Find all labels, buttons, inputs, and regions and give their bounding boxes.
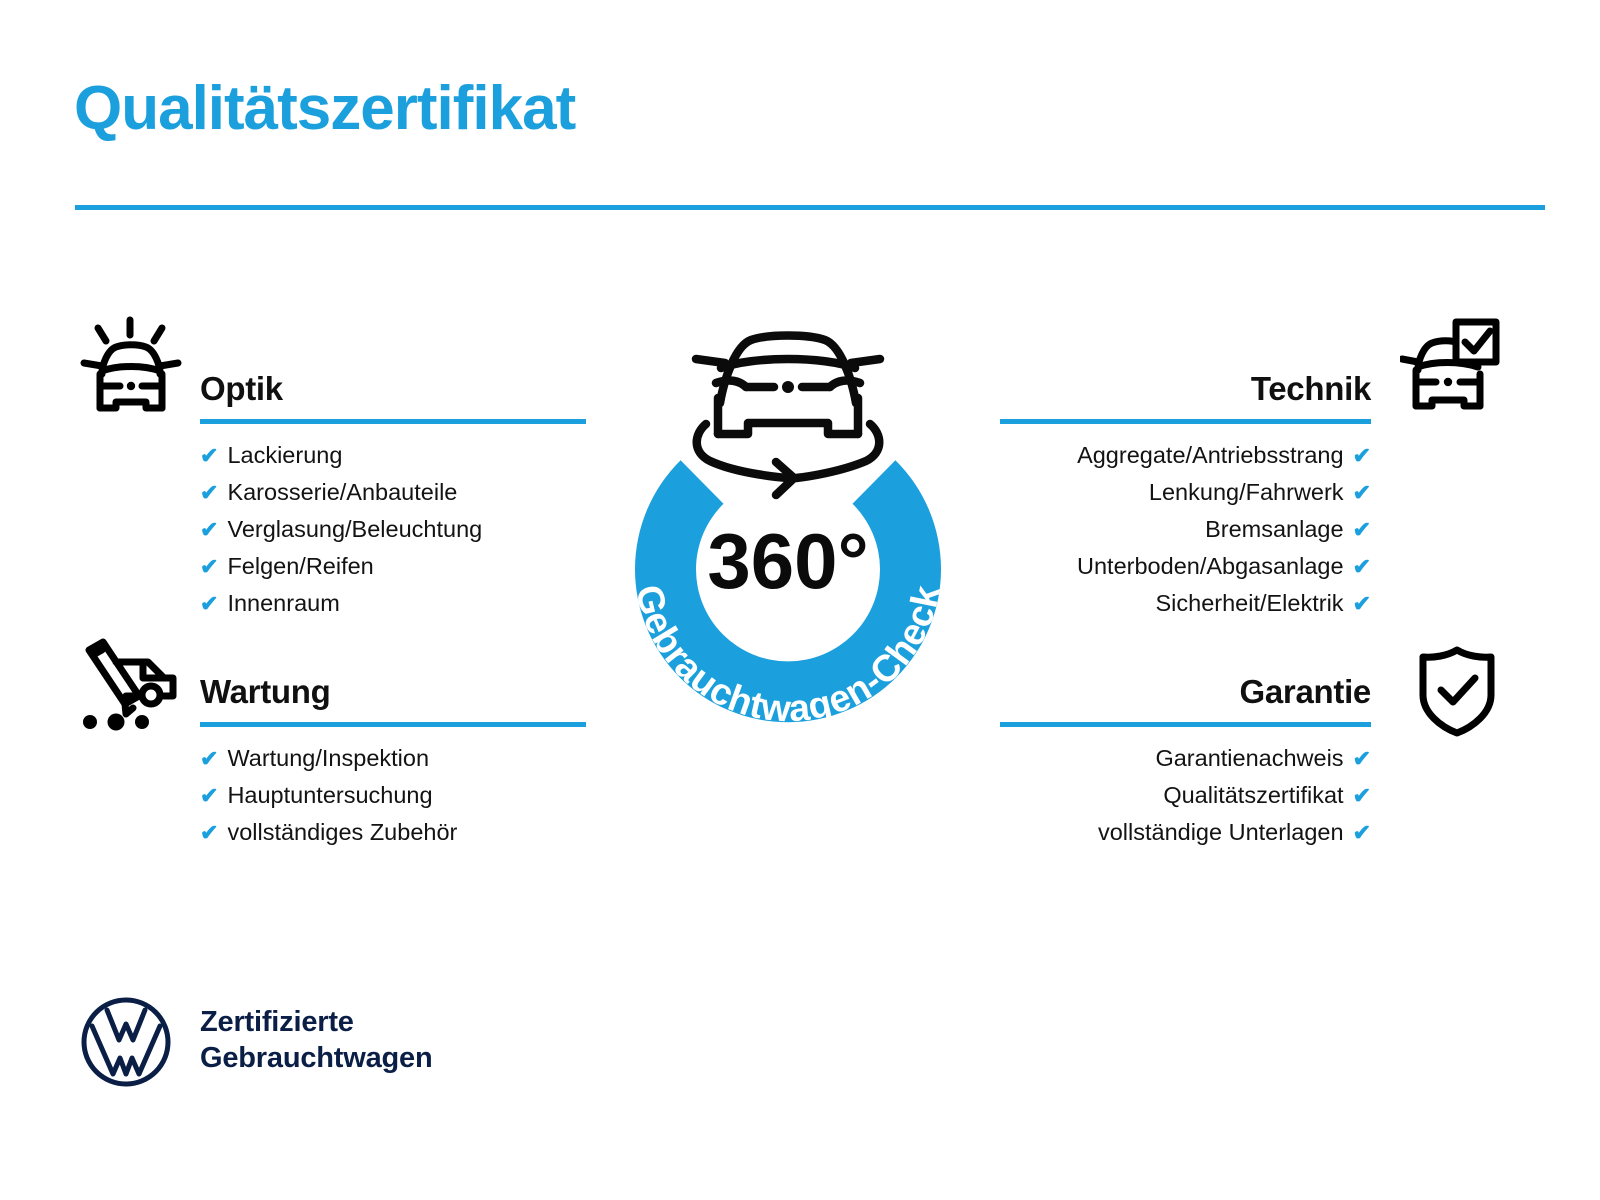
section-header: Garantie	[1000, 663, 1371, 715]
list-item: Aggregate/Antriebsstrang✔	[1000, 437, 1371, 474]
car-front-shine-icon	[78, 316, 183, 416]
list-item-label: Innenraum	[227, 590, 339, 616]
check-icon: ✔	[1353, 443, 1371, 468]
check-icon: ✔	[1353, 517, 1371, 542]
checklist: ✔Lackierung ✔Karosserie/Anbauteile ✔Verg…	[200, 437, 586, 622]
list-item-label: vollständiges Zubehör	[227, 819, 457, 845]
list-item-label: Qualitätszertifikat	[1163, 782, 1343, 808]
checklist: ✔Wartung/Inspektion ✔Hauptuntersuchung ✔…	[200, 740, 586, 851]
list-item-label: Bremsanlage	[1205, 516, 1343, 542]
brand-line-1: Zertifizierte	[200, 1004, 432, 1040]
section-divider	[200, 419, 586, 424]
section-title: Optik	[200, 370, 283, 408]
list-item: ✔Wartung/Inspektion	[200, 740, 586, 777]
section-optik: Optik ✔Lackierung ✔Karosserie/Anbauteile…	[200, 360, 586, 622]
pencil-car-service-icon	[76, 636, 181, 731]
check-icon: ✔	[1353, 746, 1371, 771]
list-item-label: Felgen/Reifen	[227, 553, 373, 579]
certificate-page: Qualitätszertifikat	[0, 0, 1600, 1200]
section-title: Technik	[1251, 370, 1371, 408]
check-icon: ✔	[200, 480, 218, 505]
check-icon: ✔	[200, 554, 218, 579]
list-item: vollständige Unterlagen✔	[1000, 814, 1371, 851]
list-item-label: Verglasung/Beleuchtung	[227, 516, 482, 542]
check-icon: ✔	[200, 746, 218, 771]
section-divider	[1000, 722, 1371, 727]
list-item: ✔Innenraum	[200, 585, 586, 622]
list-item-label: Wartung/Inspektion	[227, 745, 429, 771]
section-divider	[1000, 419, 1371, 424]
section-header: Technik	[1000, 360, 1371, 412]
checklist: Aggregate/Antriebsstrang✔ Lenkung/Fahrwe…	[1000, 437, 1371, 622]
list-item: ✔Hauptuntersuchung	[200, 777, 586, 814]
header-divider	[75, 205, 1545, 210]
section-header: Wartung	[200, 663, 586, 715]
list-item: Sicherheit/Elektrik✔	[1000, 585, 1371, 622]
list-item: Unterboden/Abgasanlage✔	[1000, 548, 1371, 585]
list-item-label: Lackierung	[227, 442, 342, 468]
check-icon: ✔	[1353, 591, 1371, 616]
list-item: Garantienachweis✔	[1000, 740, 1371, 777]
list-item-label: vollständige Unterlagen	[1098, 819, 1344, 845]
car-rotation-icon	[696, 336, 880, 496]
list-item-label: Lenkung/Fahrwerk	[1149, 479, 1344, 505]
gebrauchtwagen-check-badge: Gebrauchtwagen-Check	[588, 306, 988, 766]
list-item: ✔Verglasung/Beleuchtung	[200, 511, 586, 548]
section-header: Optik	[200, 360, 586, 412]
list-item: Qualitätszertifikat✔	[1000, 777, 1371, 814]
section-divider	[200, 722, 586, 727]
list-item: ✔Karosserie/Anbauteile	[200, 474, 586, 511]
section-title: Garantie	[1240, 673, 1372, 711]
list-item-label: Sicherheit/Elektrik	[1155, 590, 1343, 616]
list-item-label: Hauptuntersuchung	[227, 782, 432, 808]
section-title: Wartung	[200, 673, 330, 711]
check-icon: ✔	[1353, 783, 1371, 808]
page-title: Qualitätszertifikat	[74, 78, 575, 140]
check-icon: ✔	[200, 820, 218, 845]
car-front-checkbox-icon	[1400, 318, 1500, 416]
section-garantie: Garantie Garantienachweis✔ Qualitätszert…	[1000, 663, 1371, 851]
shield-check-icon	[1411, 645, 1503, 737]
list-item: ✔vollständiges Zubehör	[200, 814, 586, 851]
list-item: ✔Felgen/Reifen	[200, 548, 586, 585]
volkswagen-logo	[80, 996, 172, 1088]
brand-text: Zertifizierte Gebrauchtwagen	[200, 1004, 432, 1076]
check-icon: ✔	[1353, 820, 1371, 845]
check-icon: ✔	[200, 783, 218, 808]
check-icon: ✔	[200, 443, 218, 468]
brand-lockup: Zertifizierte Gebrauchtwagen	[80, 996, 580, 1096]
check-icon: ✔	[1353, 480, 1371, 505]
section-wartung: Wartung ✔Wartung/Inspektion ✔Hauptunters…	[200, 663, 586, 851]
list-item-label: Aggregate/Antriebsstrang	[1077, 442, 1344, 468]
check-icon: ✔	[200, 591, 218, 616]
list-item: ✔Lackierung	[200, 437, 586, 474]
list-item: Lenkung/Fahrwerk✔	[1000, 474, 1371, 511]
check-icon: ✔	[200, 517, 218, 542]
brand-line-2: Gebrauchtwagen	[200, 1040, 432, 1076]
list-item-label: Karosserie/Anbauteile	[227, 479, 457, 505]
checklist: Garantienachweis✔ Qualitätszertifikat✔ v…	[1000, 740, 1371, 851]
list-item-label: Unterboden/Abgasanlage	[1077, 553, 1344, 579]
section-technik: Technik Aggregate/Antriebsstrang✔ Lenkun…	[1000, 360, 1371, 622]
list-item: Bremsanlage✔	[1000, 511, 1371, 548]
check-icon: ✔	[1353, 554, 1371, 579]
badge-center-label: 360°	[707, 517, 868, 605]
list-item-label: Garantienachweis	[1155, 745, 1343, 771]
